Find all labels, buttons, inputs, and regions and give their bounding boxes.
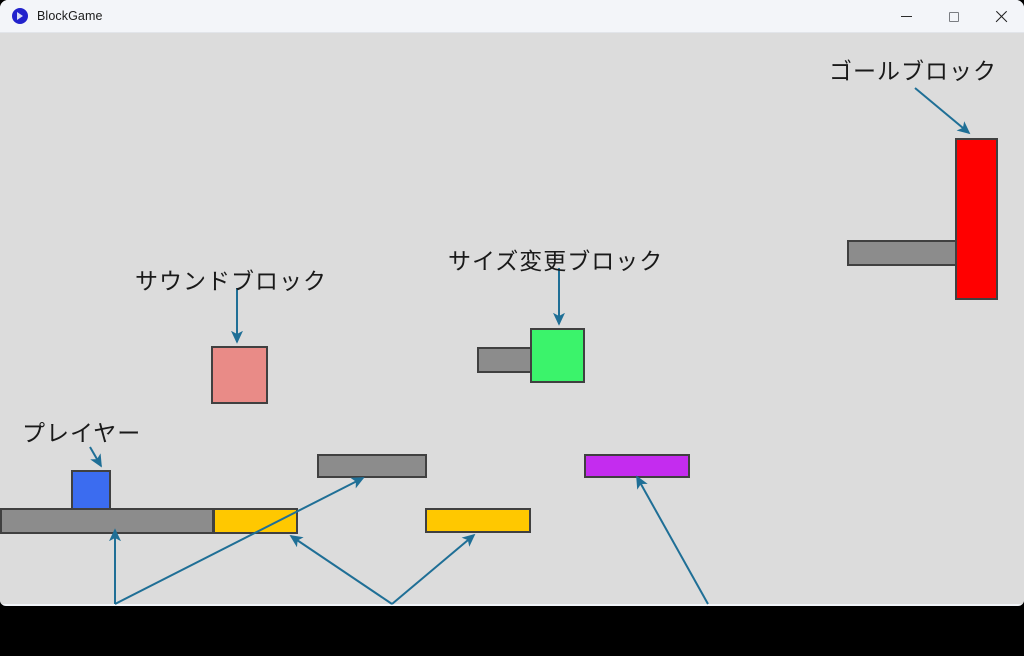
goal-block: [955, 138, 998, 300]
minimize-button[interactable]: [883, 0, 930, 33]
player: [71, 470, 111, 510]
app-circle-icon: [12, 8, 28, 24]
game-canvas[interactable]: [0, 33, 1024, 604]
close-button[interactable]: [977, 0, 1024, 33]
annotation-label-resize-block: サイズ変更ブロック: [448, 242, 663, 276]
gold-platform: [213, 508, 298, 534]
annotation-label-player: プレイヤー: [22, 414, 141, 448]
size-change-block: [530, 328, 585, 383]
gray-platform: [317, 454, 427, 478]
annotation-label-sound-block: サウンドブロック: [135, 262, 327, 296]
maximize-icon: [949, 12, 959, 22]
screen: BlockGame ゴールブロックサウンドブロックサイズ変更ブロックプレイヤー: [0, 0, 1024, 656]
sound-block: [211, 346, 268, 404]
ground-platform: [0, 508, 214, 534]
window-title: BlockGame: [37, 9, 103, 23]
window-controls: [883, 0, 1024, 33]
purple-platform: [584, 454, 690, 478]
maximize-button[interactable]: [930, 0, 977, 33]
close-icon: [995, 11, 1007, 23]
gold-platform: [425, 508, 531, 533]
gray-platform: [847, 240, 957, 266]
app-window: BlockGame: [0, 0, 1024, 606]
minimize-icon: [901, 16, 912, 17]
annotation-label-goal-block: ゴールブロック: [829, 52, 997, 86]
window-titlebar: BlockGame: [0, 0, 1024, 33]
